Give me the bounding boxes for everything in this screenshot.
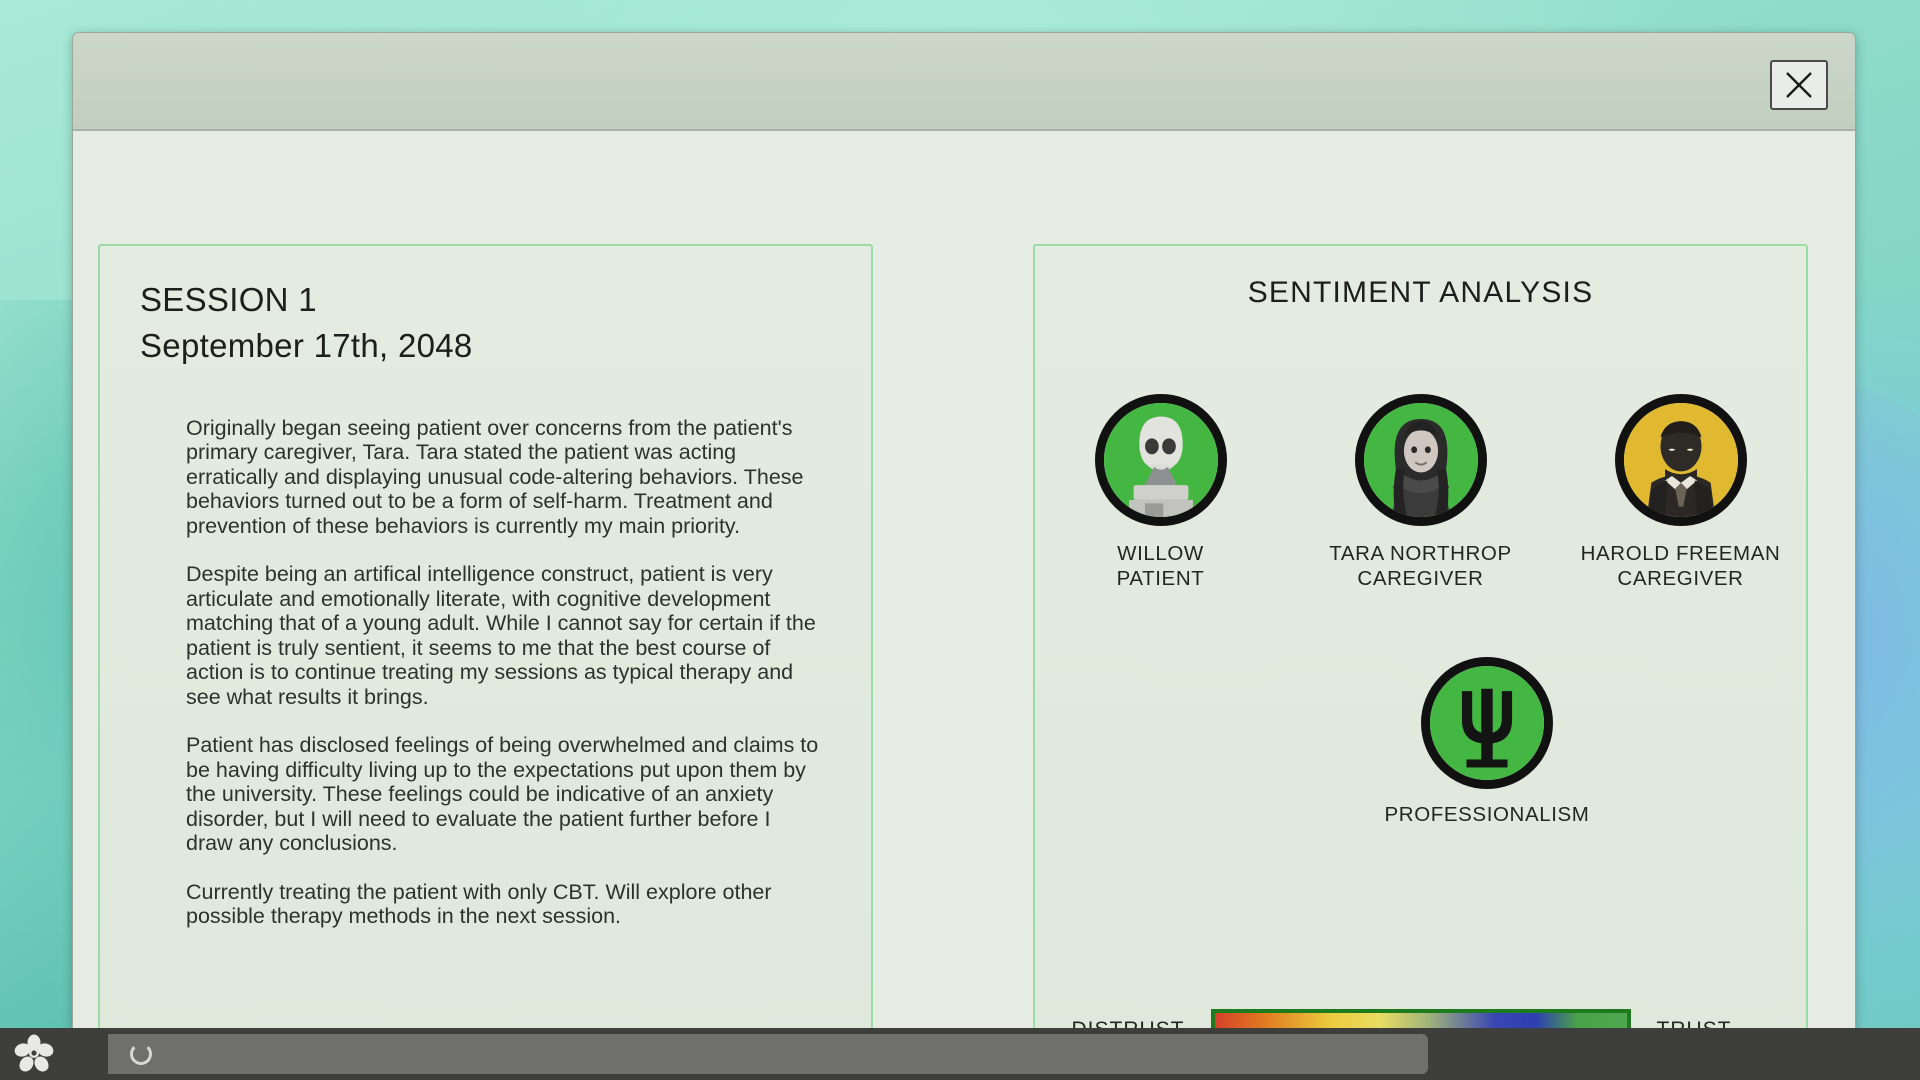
- character-avatar-row: WILLOW PATIENT: [1035, 394, 1806, 591]
- note-paragraph: Currently treating the patient with only…: [186, 880, 819, 929]
- psi-symbol-icon: [1430, 666, 1544, 780]
- session-date: September 17th, 2048: [140, 325, 831, 368]
- character-cell-harold[interactable]: HAROLD FREEMAN CAREGIVER: [1581, 394, 1781, 591]
- close-icon: [1782, 68, 1816, 102]
- avatar[interactable]: [1355, 394, 1487, 526]
- desktop: SESSION 1 September 17th, 2048 Originall…: [0, 0, 1920, 1080]
- session-notes-panel: SESSION 1 September 17th, 2048 Originall…: [98, 244, 873, 1032]
- note-paragraph: Despite being an artifical intelligence …: [186, 562, 819, 709]
- sentiment-analysis-panel: SENTIMENT ANALYSIS: [1033, 244, 1808, 1032]
- note-paragraph: Originally began seeing patient over con…: [186, 416, 819, 539]
- character-role: CAREGIVER: [1357, 567, 1483, 592]
- character-name: TARA NORTHROP: [1329, 542, 1511, 567]
- character-name: HAROLD FREEMAN: [1581, 542, 1781, 567]
- avatar[interactable]: [1615, 394, 1747, 526]
- window-titlebar[interactable]: [73, 33, 1855, 131]
- loading-circle-icon: [130, 1043, 152, 1065]
- woman-caregiver-avatar-icon: [1364, 403, 1478, 517]
- taskbar: [0, 1028, 1920, 1080]
- character-cell-willow[interactable]: WILLOW PATIENT: [1061, 394, 1261, 591]
- professionalism-cell[interactable]: PROFESSIONALISM: [1387, 657, 1587, 827]
- character-name: WILLOW: [1117, 542, 1204, 567]
- note-paragraph: Patient has disclosed feelings of being …: [186, 733, 819, 856]
- man-suit-caregiver-avatar-icon: [1624, 403, 1738, 517]
- avatar[interactable]: [1095, 394, 1227, 526]
- session-notes-body: Originally began seeing patient over con…: [140, 416, 831, 929]
- android-patient-avatar-icon: [1104, 403, 1218, 517]
- therapy-notes-window: SESSION 1 September 17th, 2048 Originall…: [72, 32, 1856, 1032]
- character-role: CAREGIVER: [1617, 567, 1743, 592]
- close-button[interactable]: [1770, 60, 1828, 110]
- window-body: SESSION 1 September 17th, 2048 Originall…: [73, 131, 1855, 1032]
- professionalism-label: PROFESSIONALISM: [1385, 803, 1590, 827]
- sentiment-analysis-title: SENTIMENT ANALYSIS: [1035, 276, 1806, 310]
- session-title: SESSION 1: [140, 282, 831, 319]
- taskbar-window-button[interactable]: [108, 1034, 1428, 1074]
- character-cell-tara[interactable]: TARA NORTHROP CAREGIVER: [1321, 394, 1521, 591]
- flower-start-icon[interactable]: [14, 1034, 54, 1074]
- character-role: PATIENT: [1117, 567, 1205, 592]
- professionalism-avatar[interactable]: [1421, 657, 1553, 789]
